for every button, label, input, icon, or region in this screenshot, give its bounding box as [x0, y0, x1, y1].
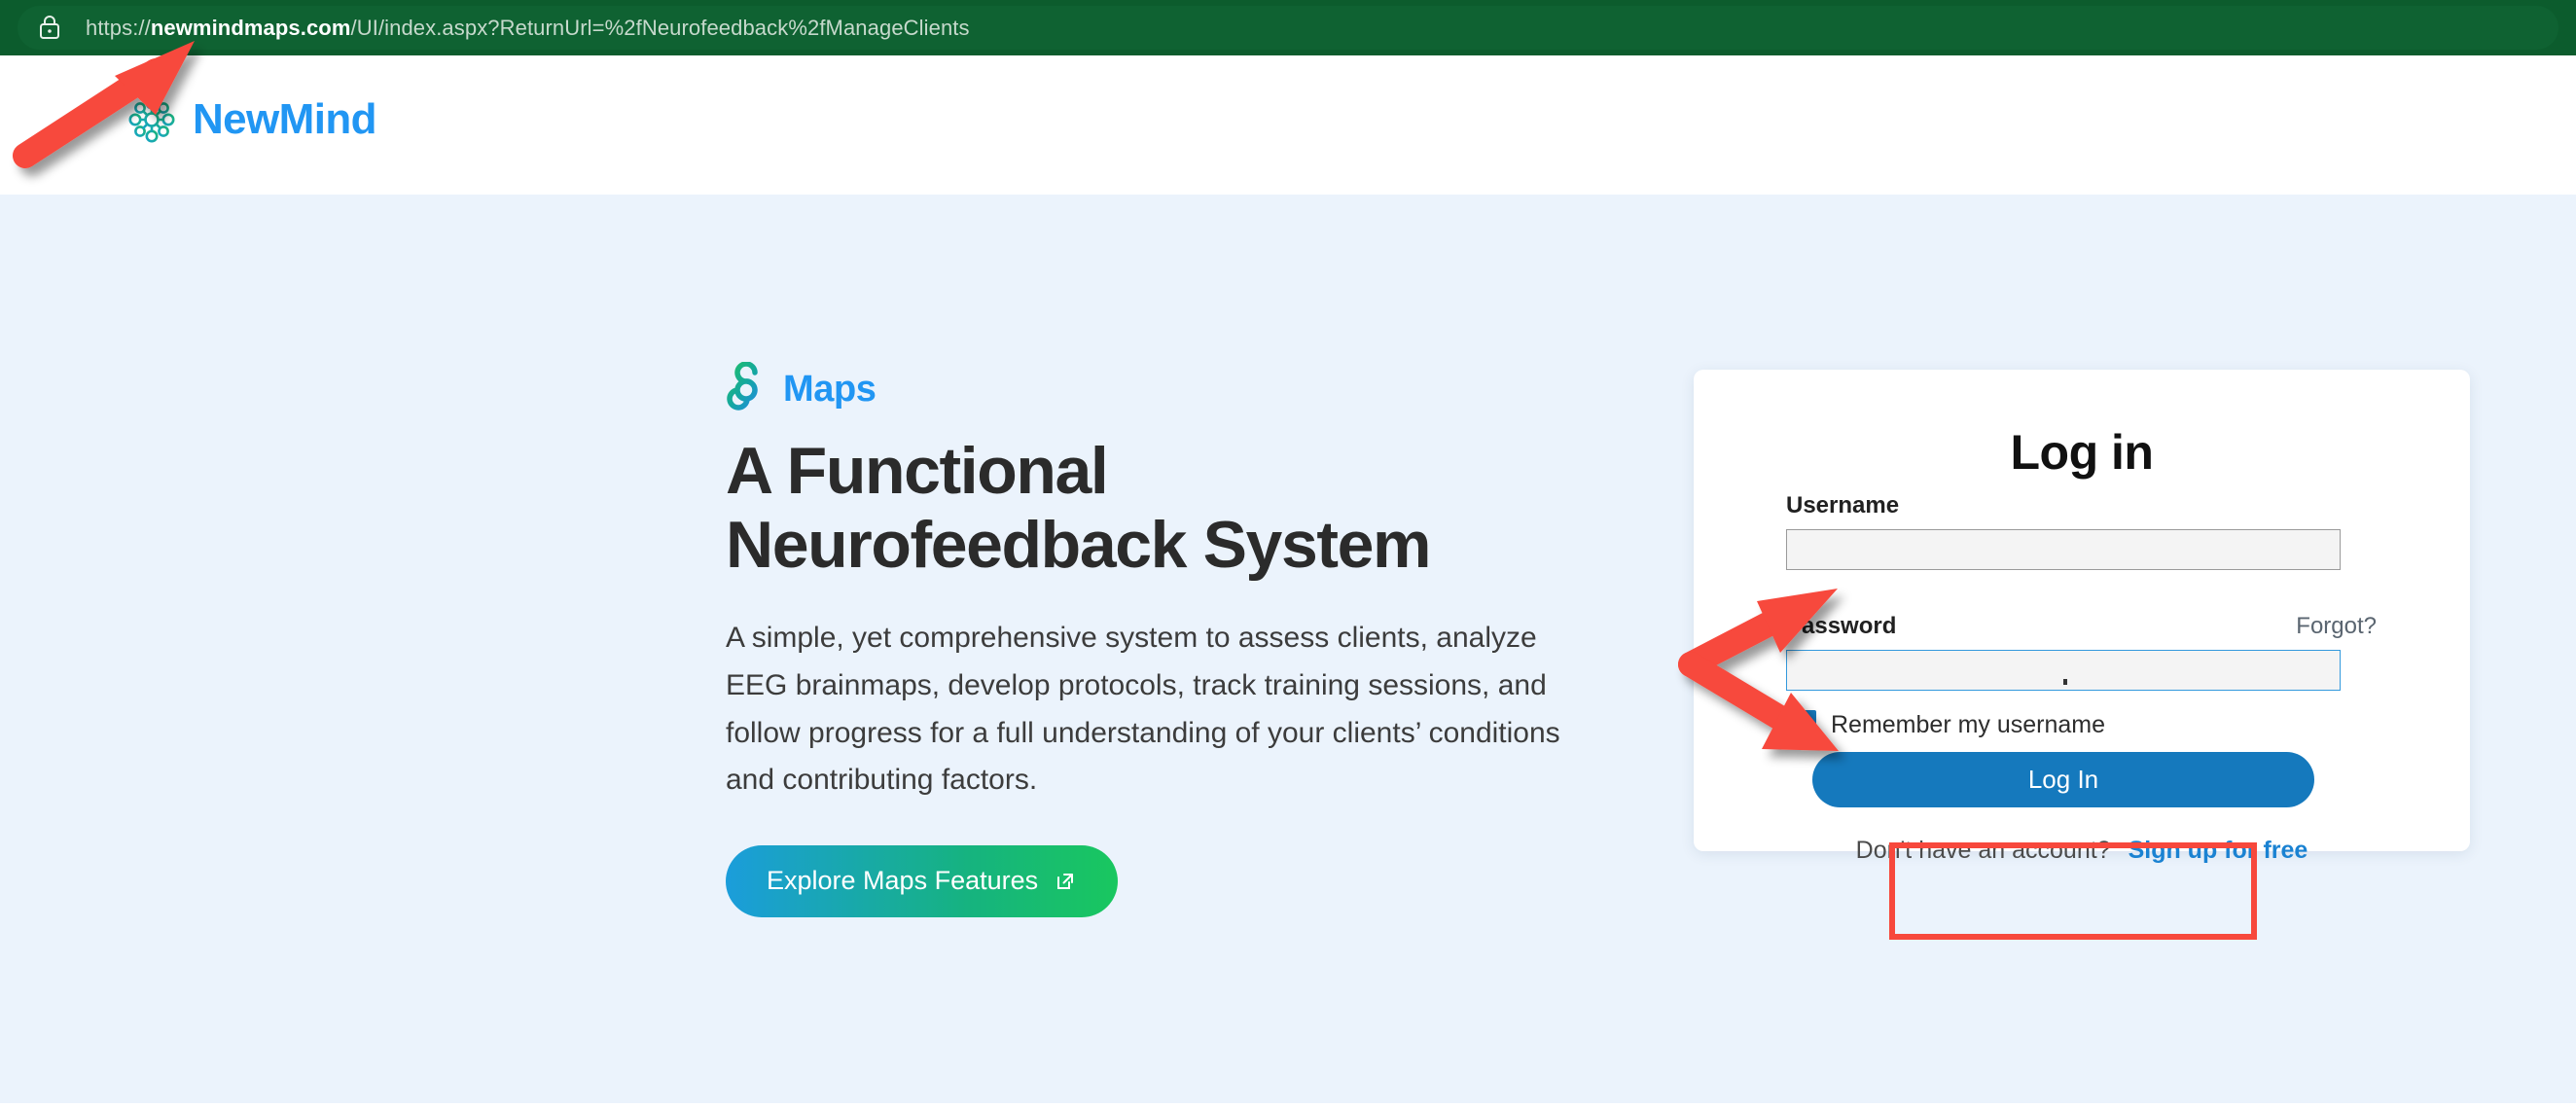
- signup-question-text: Don't have an account?: [1856, 837, 2111, 865]
- brand-lockup[interactable]: NewMind: [125, 92, 376, 147]
- newmind-brain-logo-icon: [125, 92, 179, 147]
- url-scheme: https://: [86, 16, 151, 40]
- login-submit-button[interactable]: Log In: [1812, 752, 2314, 807]
- external-link-icon: [1054, 870, 1077, 893]
- login-title: Log in: [1694, 424, 2470, 481]
- explore-maps-features-button[interactable]: Explore Maps Features: [726, 845, 1118, 917]
- checkmark-icon: [1791, 715, 1811, 735]
- login-card: Log in Username Password Forgot? Remembe…: [1694, 370, 2470, 851]
- lock-icon[interactable]: [39, 15, 60, 40]
- maps-product-name: Maps: [783, 369, 877, 411]
- explore-button-label: Explore Maps Features: [767, 866, 1038, 896]
- username-input[interactable]: [1786, 529, 2341, 570]
- password-text-caret: [2063, 679, 2067, 685]
- maps-product-lockup: Maps: [726, 362, 1640, 416]
- hero-left-column: Maps A Functional Neurofeedback System A…: [726, 362, 1640, 917]
- remember-username-label: Remember my username: [1831, 711, 2105, 739]
- forgot-password-link[interactable]: Forgot?: [2296, 613, 2377, 640]
- url-path: /UI/index.aspx?ReturnUrl=%2fNeurofeedbac…: [351, 16, 970, 40]
- remember-username-checkbox[interactable]: [1786, 710, 1816, 740]
- brand-name: NewMind: [193, 95, 376, 144]
- username-label: Username: [1786, 492, 1899, 519]
- hero-description: A simple, yet comprehensive system to as…: [726, 615, 1601, 804]
- site-header: NewMind: [0, 55, 2576, 195]
- remember-username-row[interactable]: Remember my username: [1786, 710, 2105, 740]
- browser-url-bar: https://newmindmaps.com/UI/index.aspx?Re…: [0, 0, 2576, 55]
- url-host: newmindmaps.com: [151, 16, 351, 40]
- page-title: A Functional Neurofeedback System: [726, 434, 1582, 582]
- url-text[interactable]: https://newmindmaps.com/UI/index.aspx?Re…: [86, 16, 970, 41]
- signup-row: Don't have an account? Sign up for free: [1694, 837, 2470, 865]
- maps-node-logo-icon: [726, 362, 770, 416]
- sign-up-for-free-link[interactable]: Sign up for free: [2129, 837, 2308, 865]
- hero-section: Maps A Functional Neurofeedback System A…: [0, 195, 2576, 1103]
- password-label: Password: [1786, 613, 1896, 640]
